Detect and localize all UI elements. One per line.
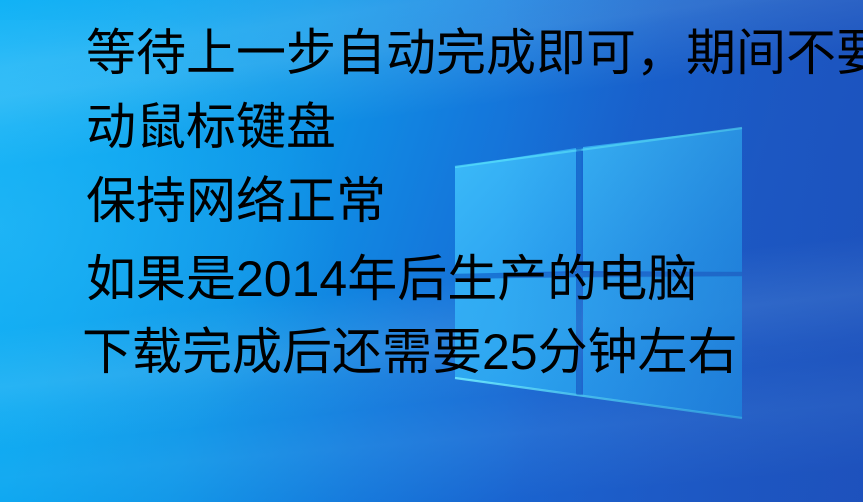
instruction-line-1: 等待上一步自动完成即可，期间不要 <box>86 28 863 78</box>
desktop-wallpaper-screen: 等待上一步自动完成即可，期间不要 动鼠标键盘 保持网络正常 如果是2014年后生… <box>0 0 863 502</box>
instruction-line-3: 保持网络正常 <box>86 176 386 226</box>
instruction-text-overlay: 等待上一步自动完成即可，期间不要 动鼠标键盘 保持网络正常 如果是2014年后生… <box>0 0 863 502</box>
instruction-line-5: 下载完成后还需要25分钟左右 <box>82 327 738 377</box>
instruction-line-4: 如果是2014年后生产的电脑 <box>86 254 697 304</box>
instruction-line-2: 动鼠标键盘 <box>86 102 336 152</box>
